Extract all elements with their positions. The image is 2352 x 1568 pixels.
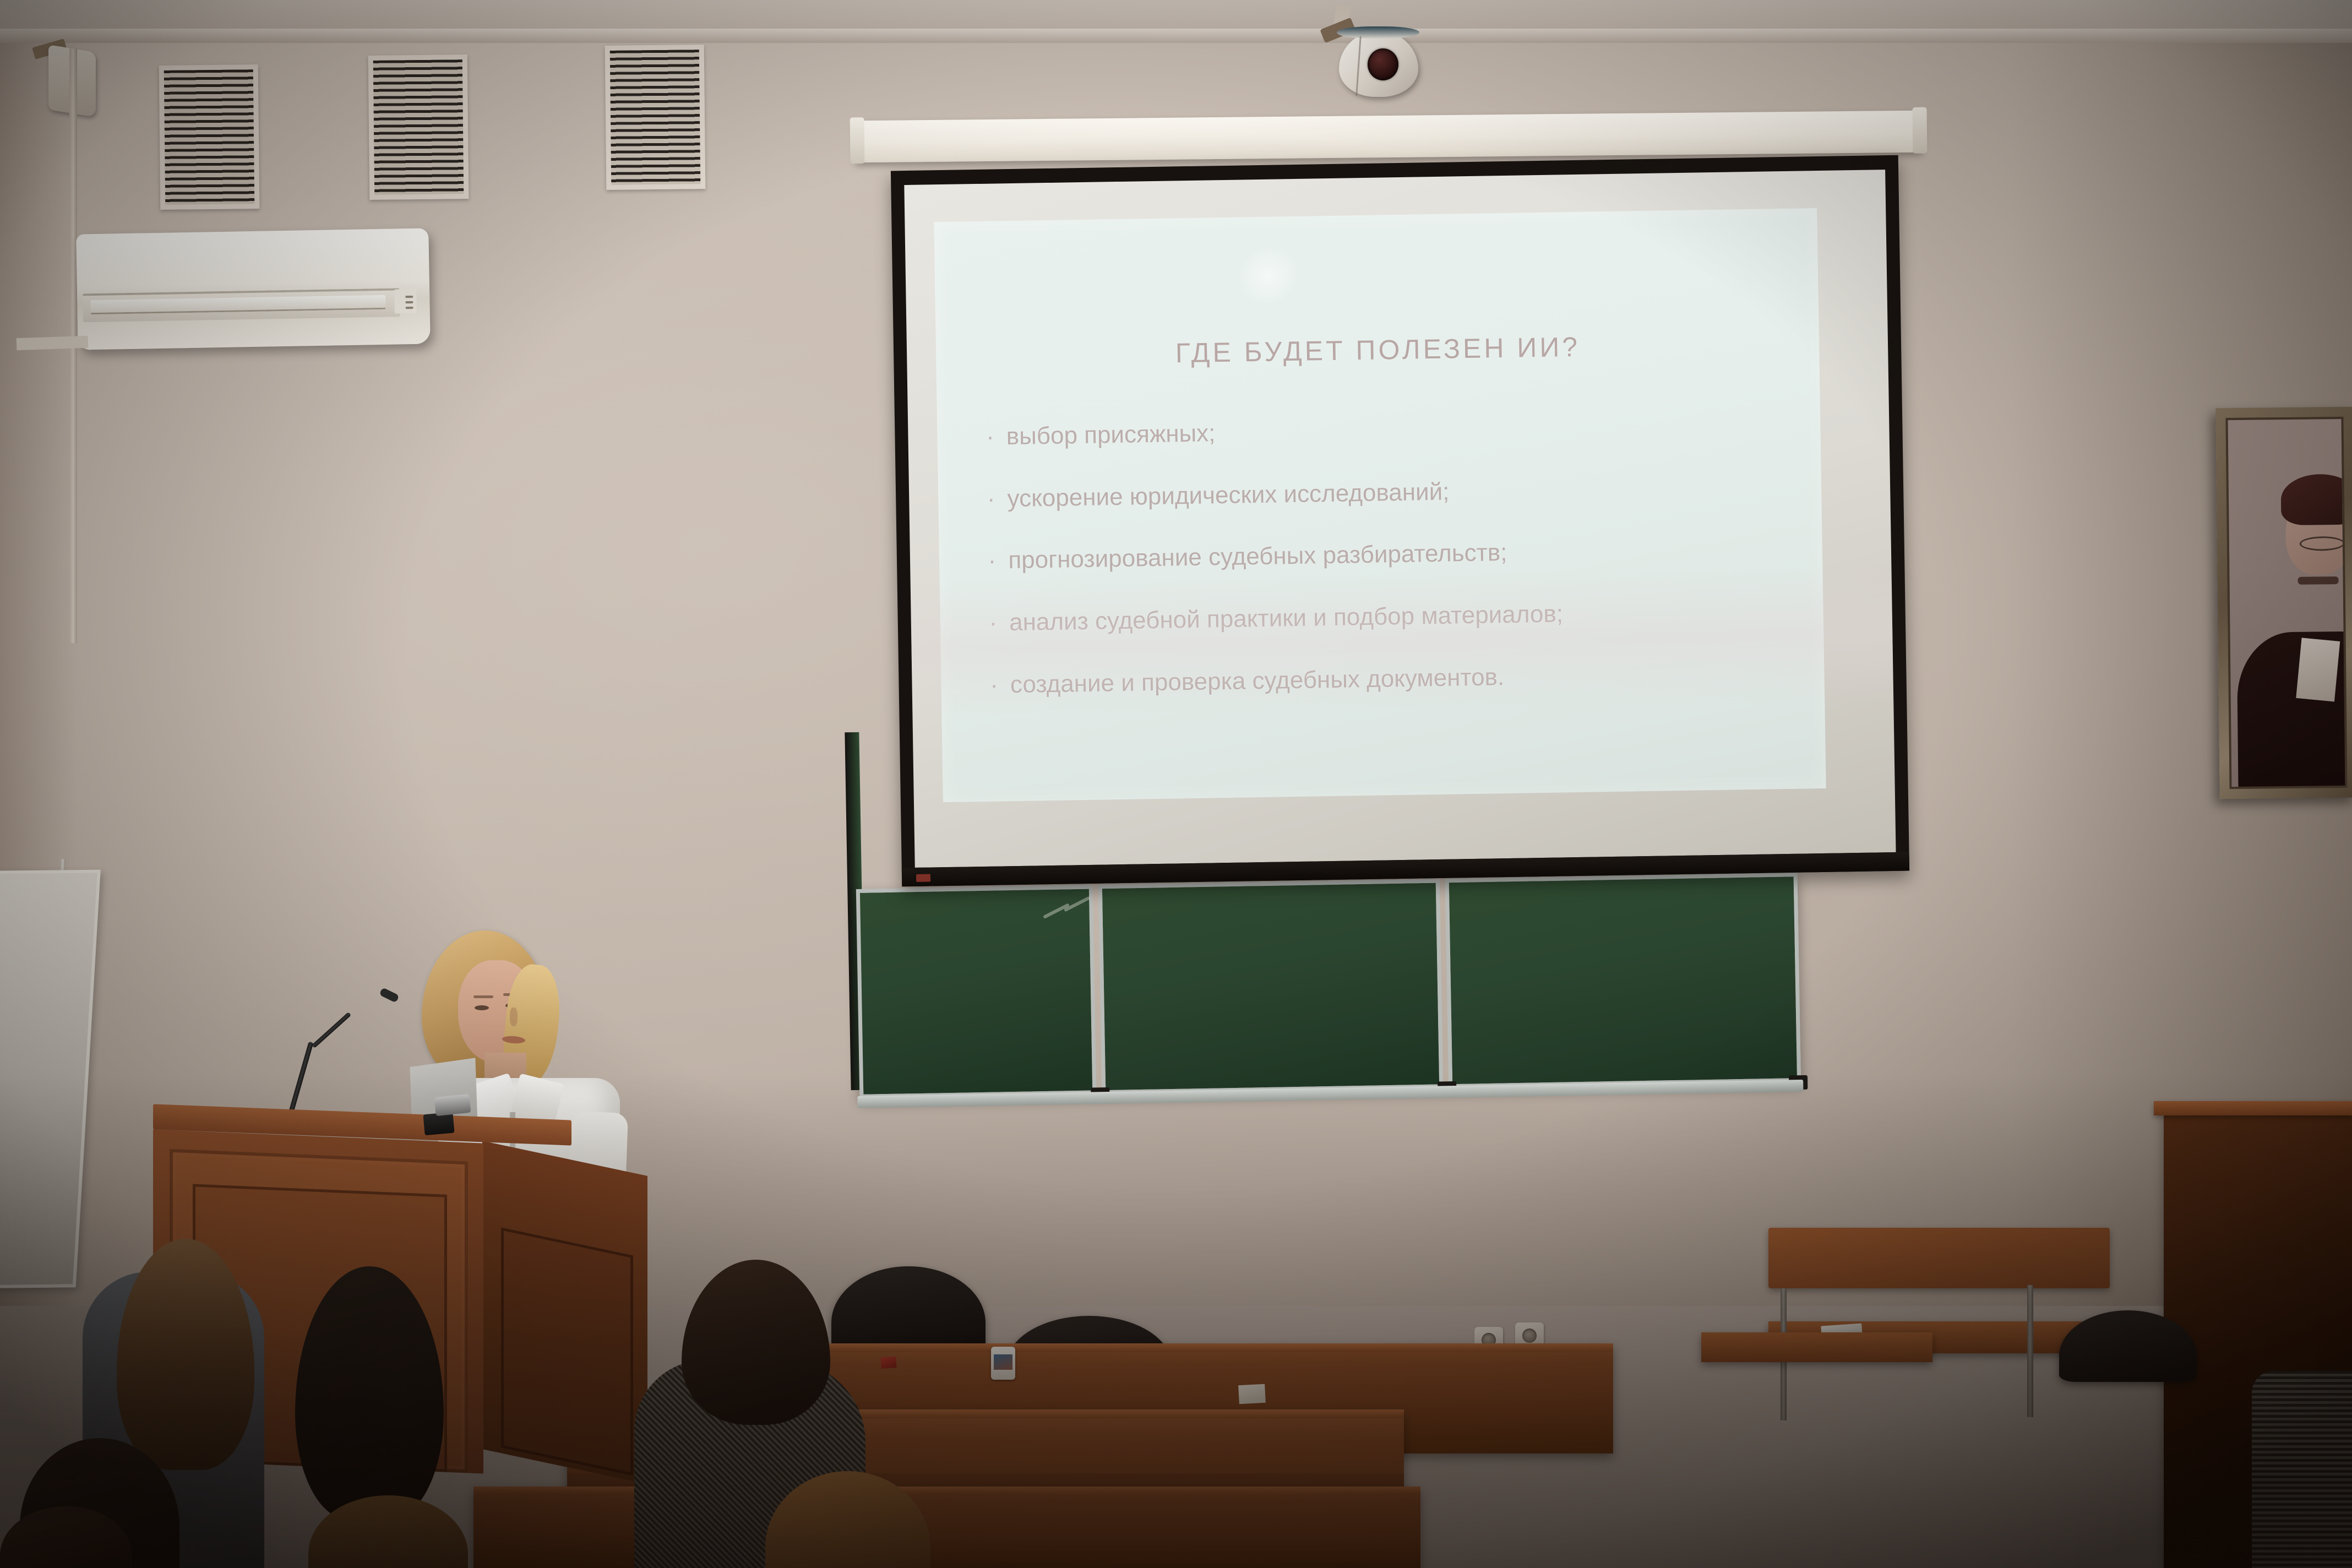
hair [295,1266,444,1520]
podium-side [482,1141,647,1484]
bench-leg [2027,1285,2033,1417]
chalkboard-panel [856,885,1097,1098]
audience-head-2 [295,1266,444,1520]
vent-2 [368,55,469,200]
ceiling [0,0,2352,33]
projector-screen: ГДЕ БУДЕТ ПОЛЕЗЕН ИИ? выбор присяжных; у… [891,155,1909,887]
screen-pull-tab[interactable] [916,874,930,881]
audience-head-1 [117,1239,254,1470]
ac-led-indicator [406,307,413,309]
hair [308,1495,468,1568]
presenter-brow [473,995,493,998]
audience-person-8 [2252,1371,2352,1568]
framed-portrait [2215,407,2352,799]
air-conditioner [76,228,431,350]
desk-edge [473,1487,1420,1495]
chalkboard-panel [1445,873,1801,1088]
slide-bullet-3: прогнозирование судебных разбирательств; [988,536,1787,574]
bench-backrest [1768,1228,2110,1288]
ac-led-indicator [405,301,413,303]
ac-wall-bracket [17,336,89,351]
vent-louvers [610,50,701,185]
phone-on-desk[interactable] [991,1347,1015,1380]
audience-head-6 [682,1260,830,1425]
vent-3 [605,45,706,190]
slide-bullet-2: ускорение юридических исследований; [987,474,1787,512]
screen-surface: ГДЕ БУДЕТ ПОЛЕЗЕН ИИ? выбор присяжных; у… [904,170,1896,868]
projector-hotspot [1224,233,1312,319]
desk-microphone-icon[interactable] [434,1094,471,1117]
desk-edge [820,1343,1613,1352]
housing-cap-left [850,117,865,164]
camera-lens-icon [1368,48,1398,80]
vent-louvers [373,59,464,195]
portrait-hair [2280,474,2347,525]
phone-screen [994,1354,1012,1370]
audience-head-7 [765,1471,930,1568]
portrait-shirt [2296,638,2340,701]
lecture-hall-scene: ГДЕ БУДЕТ ПОЛЕЗЕН ИИ? выбор присяжных; у… [0,0,2352,1568]
slide-title: ГДЕ БУДЕТ ПОЛЕЗЕН ИИ? [936,327,1820,373]
hair [682,1260,830,1425]
portrait-mustache [2297,576,2338,585]
right-cabinet-top [2154,1101,2352,1115]
vent-1 [159,64,260,210]
ac-led-indicator [405,296,413,298]
outlet-socket-icon [1522,1329,1537,1343]
audience-head-4 [0,1506,132,1568]
podium-side-panel [501,1227,633,1476]
bench-seat [1701,1332,1932,1362]
housing-cap-right [1913,107,1928,154]
bench-right-back[interactable] [1701,1321,1932,1431]
slide-bullet-1: выбор присяжных; [986,412,1785,450]
camera-collar [1337,26,1419,39]
ceiling-cornice [0,29,2352,43]
presenter-eye [475,1005,489,1010]
desk-row-front[interactable] [473,1487,1420,1568]
presenter-nose [510,1008,518,1026]
chalkboard-panel [1098,879,1444,1094]
small-red-object [880,1357,896,1368]
vent-louvers [164,69,255,205]
hair [117,1239,254,1470]
audience-head-5 [308,1495,468,1568]
projected-slide: ГДЕ БУДЕТ ПОЛЕЗЕН ИИ? выбор присяжных; у… [934,208,1826,802]
slide-bullet-5: создание и проверка судебных документов. [990,660,1789,698]
chalkboard [856,873,1801,1098]
slide-bullet-4: анализ судебной практики и подбор матери… [989,598,1788,636]
slide-bullet-list: выбор присяжных; ускорение юридических и… [986,412,1790,734]
paper-on-desk [1238,1384,1266,1404]
hair [765,1471,930,1568]
hair [0,1506,132,1568]
portrait-canvas [2225,417,2347,789]
